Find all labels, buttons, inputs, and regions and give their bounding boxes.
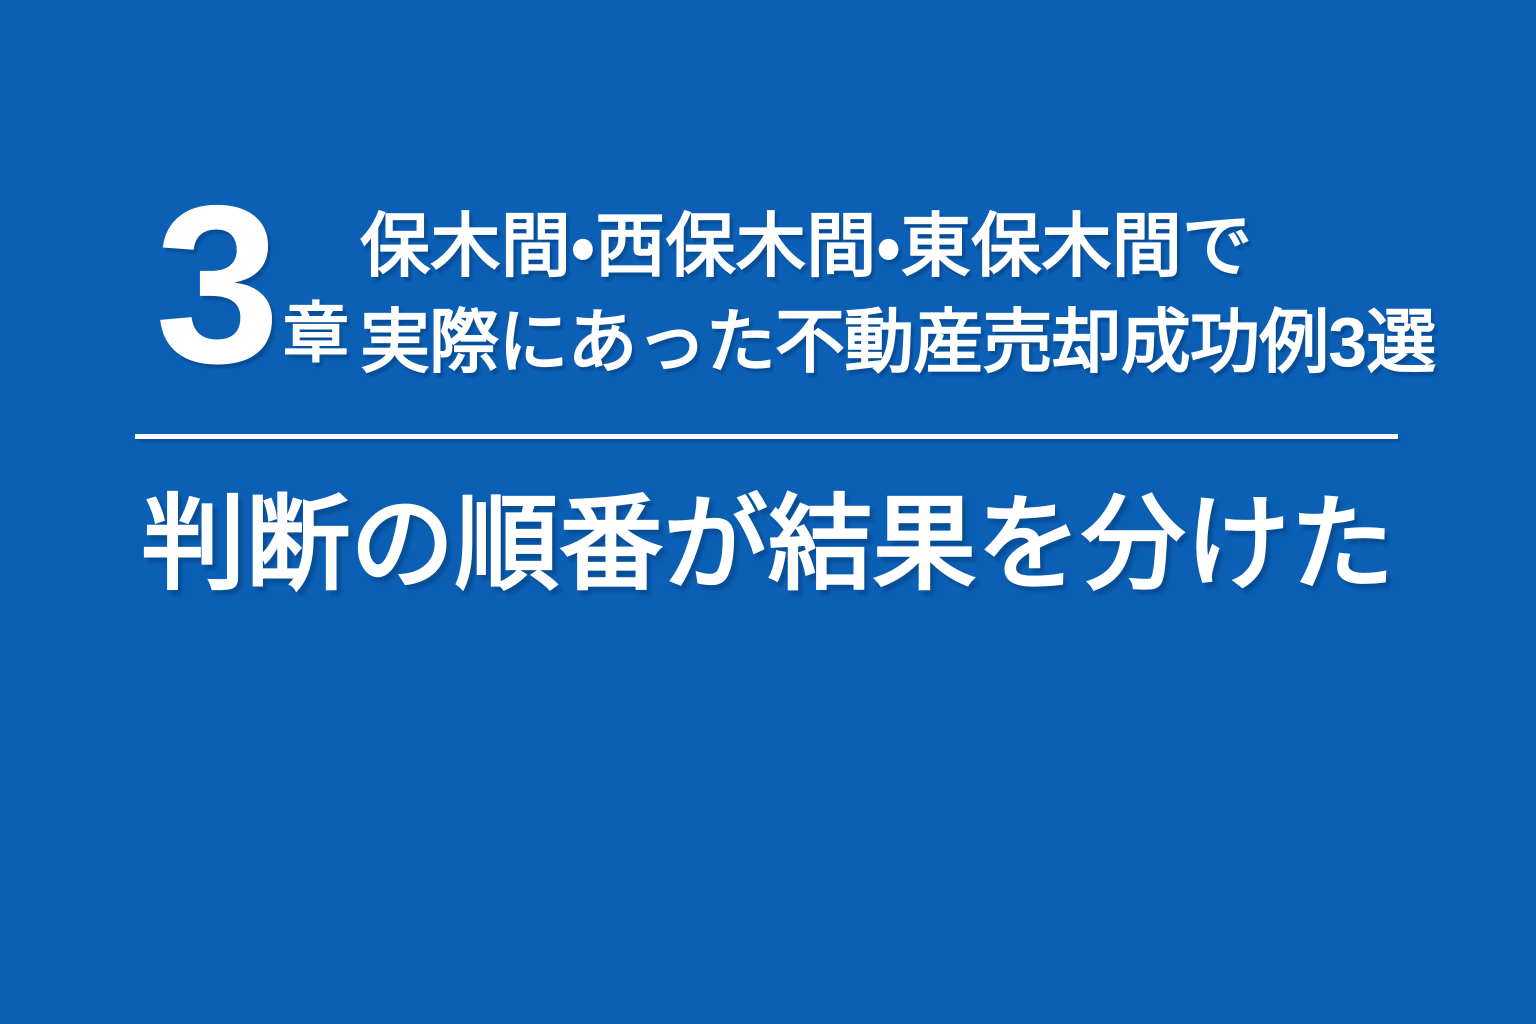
chapter-marker: 3 章 xyxy=(135,196,360,390)
slide-canvas: 3 章 保木間・西保木間・東保木間で 実際にあった不動産売却成功例3選 判断の順… xyxy=(0,0,1536,1024)
chapter-heading-block: 3 章 保木間・西保木間・東保木間で 実際にあった不動産売却成功例3選 xyxy=(135,196,1405,390)
chapter-unit-label: 章 xyxy=(283,300,349,366)
subheadline: 判断の順番が結果を分けた xyxy=(0,482,1536,608)
chapter-number: 3 xyxy=(155,172,276,397)
chapter-title-line-2: 実際にあった不動産売却成功例3選 xyxy=(360,294,1436,390)
chapter-title-line-1: 保木間・西保木間・東保木間で xyxy=(360,198,1436,294)
horizontal-divider xyxy=(135,434,1398,439)
chapter-title: 保木間・西保木間・東保木間で 実際にあった不動産売却成功例3選 xyxy=(360,196,1436,390)
